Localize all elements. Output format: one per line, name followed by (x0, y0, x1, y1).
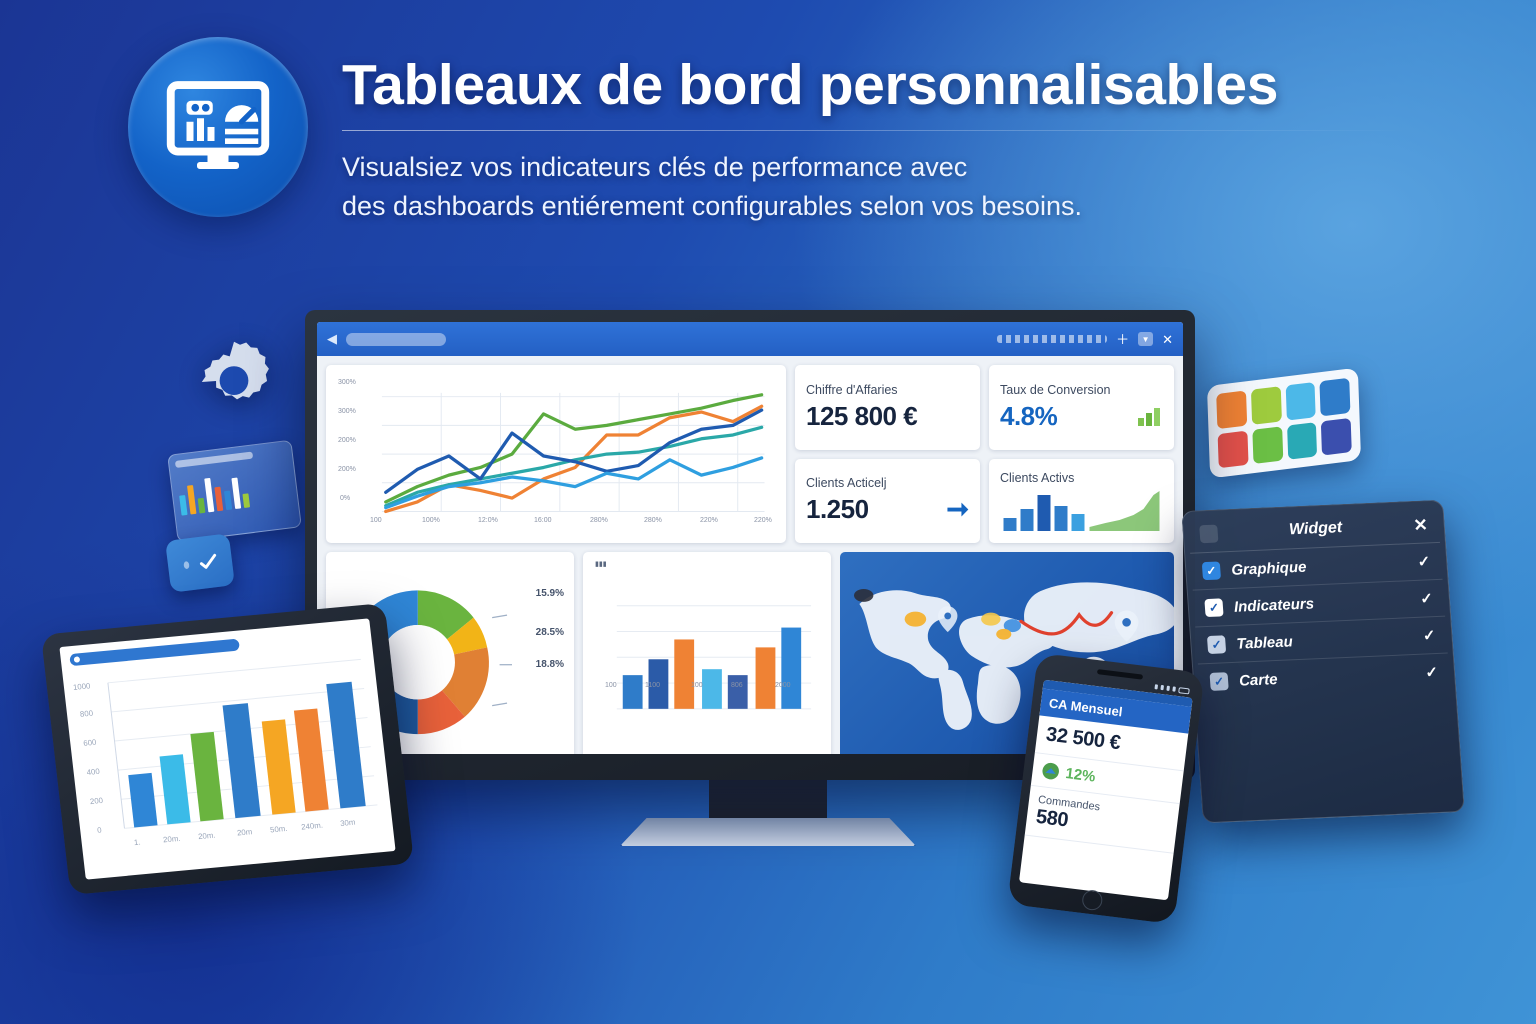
svg-text:0: 0 (97, 825, 103, 834)
phone-home-button[interactable] (1081, 889, 1103, 911)
kpi-card-revenue[interactable]: Chiffre d'Affaries 125 800 € (795, 365, 980, 450)
x-tick: 100% (422, 517, 440, 524)
kpi-label: Clients Activs (1000, 471, 1163, 485)
x-tick: 220% (754, 517, 772, 524)
titlebar-blurred-text (997, 335, 1107, 343)
series-darkblue (386, 410, 762, 492)
kpi-value: 4.8% (1000, 401, 1057, 432)
palette-swatch (1216, 390, 1247, 428)
widget-panel-title: Widget (1228, 516, 1403, 542)
bars-and-area-sparkline (1000, 489, 1163, 531)
checkbox[interactable]: ✓ (1204, 598, 1223, 617)
kpi-label: Clients Acticelj (806, 476, 969, 490)
y-tick: 0% (340, 495, 350, 502)
palette-swatch (1251, 386, 1282, 424)
widget-item-label: Graphique (1231, 554, 1408, 579)
kpi-card-conversion[interactable]: Taux de Conversion 4.8% (989, 365, 1174, 450)
widget-item-label: Indicateurs (1233, 591, 1410, 616)
dashboard-monitor-icon (128, 37, 308, 217)
line-chart-card[interactable]: 300% 300% 200% 200% 0% 100 100% 12:0% 16… (326, 365, 786, 543)
x-tick: 16:00 (534, 517, 552, 524)
kpi-value: 125 800 € (806, 401, 969, 432)
y-tick: 200% (338, 466, 356, 473)
donut-label: 28.5% (536, 627, 564, 638)
poster-canvas: Tableaux de bord personnalisables Visual… (0, 0, 1536, 1024)
subtitle-line-2: des dashboards entiérement configurables… (342, 187, 1412, 226)
tablet-bar-chart: 0200400 6008001000 1.20m.20m. 20m50m.240… (71, 643, 386, 871)
svg-text:30m: 30m (340, 818, 356, 828)
address-bar[interactable] (346, 333, 446, 346)
svg-text:20m.: 20m. (163, 834, 181, 845)
color-palette-card (1207, 368, 1361, 479)
x-tick: 100 (370, 517, 382, 524)
close-icon[interactable]: ✕ (1413, 516, 1428, 534)
tablet-screen[interactable]: 0200400 6008001000 1.20m.20m. 20m50m.240… (59, 618, 395, 879)
y-tick: 200% (338, 437, 356, 444)
widget-panel-grip-icon (1199, 525, 1218, 544)
svg-text:600: 600 (83, 738, 98, 748)
svg-text:240m.: 240m. (301, 821, 324, 832)
check-icon: ✓ (1417, 552, 1431, 571)
map-pin-icon (938, 606, 957, 632)
back-arrow-icon[interactable]: ◀ (327, 331, 337, 347)
trend-up-icon (1041, 761, 1061, 781)
widget-item-label: Carte (1239, 665, 1416, 690)
svg-text:50m.: 50m. (270, 824, 288, 835)
x-tick: 220% (700, 517, 718, 524)
x-tick: 100 (691, 682, 703, 689)
page-title: Tableaux de bord personnalisables (342, 52, 1412, 118)
page-subtitle: Visualsiez vos indicateurs clés de perfo… (342, 148, 1412, 227)
arrow-right-icon[interactable]: ➞ (946, 496, 969, 523)
y-tick: 300% (338, 408, 356, 415)
donut-label: 15.9% (536, 588, 564, 599)
svg-text:20m.: 20m. (198, 831, 216, 842)
checkbox[interactable]: ✓ (1207, 635, 1226, 654)
tablet-device: 0200400 6008001000 1.20m.20m. 20m50m.240… (41, 603, 414, 895)
palette-swatch (1321, 417, 1352, 455)
palette-swatch (1285, 382, 1316, 420)
check-icon: ✓ (1422, 626, 1436, 645)
check-icon: ✓ (1420, 589, 1434, 608)
subtitle-line-1: Visualsiez vos indicateurs clés de perfo… (342, 148, 1412, 187)
palette-swatch (1218, 430, 1249, 468)
x-tick: 100 (605, 682, 617, 689)
phone-trend-value: 12% (1065, 765, 1097, 786)
browser-title-bar: ◀ ＋ ▼ ✕ (317, 322, 1183, 356)
phone-device: CA Mensuel 32 500 € 12% Commandes 580 (1007, 653, 1205, 925)
monitor-base (620, 818, 916, 846)
svg-text:400: 400 (86, 767, 101, 777)
x-tick: 1100 (645, 682, 660, 689)
checkbox[interactable]: ✓ (1202, 561, 1221, 580)
kpi-card-clients-count[interactable]: Clients Acticelj 1.250 ➞ (795, 459, 980, 544)
check-badge-icon (165, 533, 235, 592)
x-tick: 2000 (775, 682, 791, 689)
gear-icon (188, 336, 280, 428)
check-icon: ✓ (1425, 663, 1439, 682)
palette-swatch (1252, 426, 1283, 464)
widget-panel: Widget ✕ ✓ Graphique ✓ ✓ Indicateurs ✓ ✓… (1181, 500, 1465, 824)
svg-text:200: 200 (89, 796, 104, 806)
mini-dashboard-icon (167, 440, 302, 543)
svg-text:20m: 20m (237, 827, 253, 837)
svg-text:800: 800 (80, 709, 95, 719)
green-bars-icon (1137, 406, 1163, 426)
svg-text:1.: 1. (133, 838, 141, 848)
x-tick: 806 (731, 682, 743, 689)
header-text-block: Tableaux de bord personnalisables Visual… (342, 52, 1412, 227)
bar-chart (595, 562, 819, 754)
widget-item-label: Tableau (1236, 628, 1413, 653)
monitor-neck (709, 778, 827, 822)
maximize-icon[interactable]: ▼ (1138, 332, 1153, 346)
line-chart (336, 373, 776, 539)
kpi-card-clients-chart[interactable]: Clients Activs (989, 459, 1174, 544)
checkbox[interactable]: ✓ (1210, 672, 1229, 691)
kpi-value: 1.250 (806, 494, 869, 525)
donut-label: 18.8% (536, 659, 564, 670)
x-tick: 12:0% (478, 517, 498, 524)
close-icon[interactable]: ✕ (1162, 333, 1173, 346)
y-tick: 300% (338, 379, 356, 386)
bar-chart-card[interactable]: ▮▮▮ 100 1100 100 806 2000 (583, 552, 831, 754)
palette-swatch (1320, 378, 1351, 416)
kpi-label: Taux de Conversion (1000, 383, 1163, 397)
kpi-label: Chiffre d'Affaries (806, 383, 969, 397)
palette-swatch (1287, 422, 1318, 460)
kpi-grid: Chiffre d'Affaries 125 800 € Taux de Con… (795, 365, 1174, 543)
x-tick: 280% (590, 517, 608, 524)
phone-screen[interactable]: CA Mensuel 32 500 € 12% Commandes 580 (1019, 680, 1193, 901)
x-tick: 280% (644, 517, 662, 524)
svg-text:1000: 1000 (73, 681, 92, 692)
minimize-icon[interactable]: ＋ (1116, 333, 1129, 346)
header-divider (342, 130, 1412, 131)
bar-chart-corner-label: ▮▮▮ (595, 560, 607, 568)
